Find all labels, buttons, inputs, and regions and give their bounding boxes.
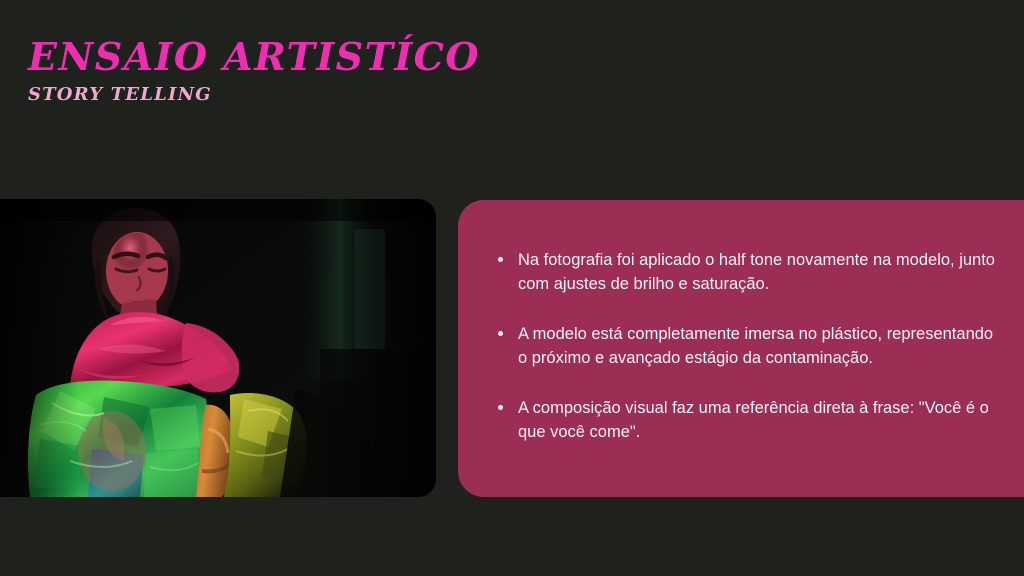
- slide-header: ENSAIO ARTISTÍCO STORY TELLING: [28, 36, 628, 106]
- list-item: A composição visual faz uma referência d…: [496, 396, 1006, 444]
- slide-subtitle: STORY TELLING: [28, 84, 628, 106]
- photo-panel: [0, 199, 436, 497]
- page-title: ENSAIO ARTISTÍCO: [28, 36, 628, 78]
- description-card: Na fotografia foi aplicado o half tone n…: [458, 200, 1024, 497]
- model-photograph: [0, 199, 436, 497]
- list-item: A modelo está completamente imersa no pl…: [496, 322, 1006, 370]
- presentation-slide: ENSAIO ARTISTÍCO STORY TELLING: [0, 0, 1024, 576]
- list-item: Na fotografia foi aplicado o half tone n…: [496, 248, 1006, 296]
- bullet-list: Na fotografia foi aplicado o half tone n…: [496, 248, 1006, 444]
